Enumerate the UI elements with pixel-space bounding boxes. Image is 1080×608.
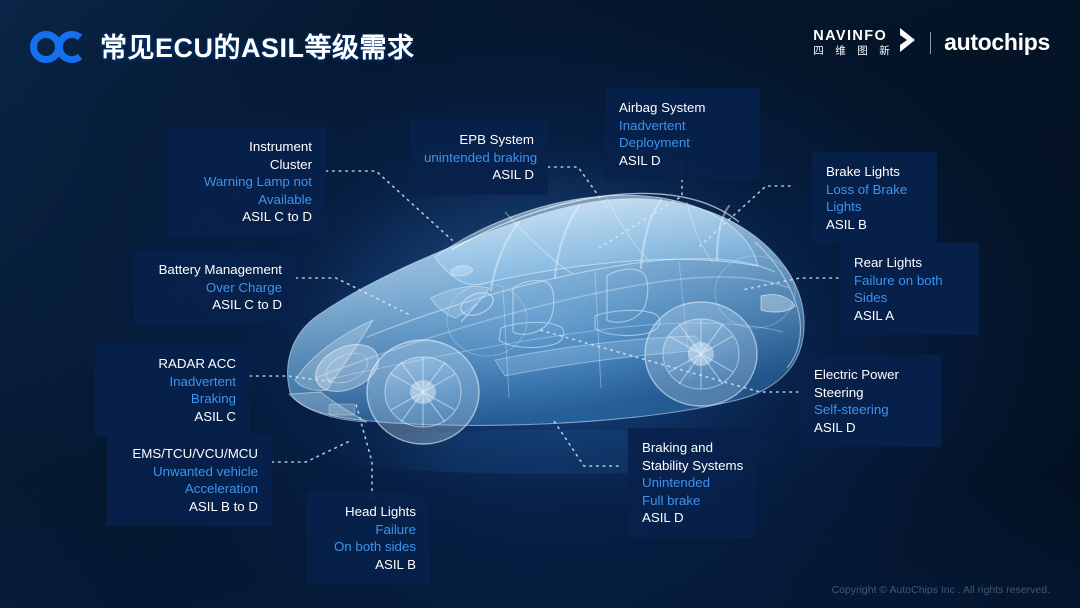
navinfo-logo-en: NAVINFO [813,29,887,44]
callout-battery-management[interactable]: Battery Management Over Charge ASIL C to… [134,250,296,325]
brand-logos: NAVINFO 四 维 图 新 autochips [813,27,1050,58]
callout-line: Sides [854,289,965,307]
callout-line: Over Charge [148,279,282,297]
callout-line: Acceleration [121,480,258,498]
slide-canvas: 常见ECU的ASIL等级需求 NAVINFO 四 维 图 新 autochips [0,0,1080,608]
page-title: 常见ECU的ASIL等级需求 [100,26,415,65]
callout-line: Lights [826,198,923,216]
callout-line: ASIL A [854,307,965,325]
oc-logo-icon [30,30,88,64]
callout-radar-acc[interactable]: RADAR ACC Inadvertent Braking ASIL C [95,344,250,436]
chevron-right-icon [898,27,917,58]
callout-line: ASIL D [642,509,741,527]
callout-line: Deployment [619,134,746,152]
callout-line: Cluster [181,156,312,174]
callout-line: ASIL B [826,216,923,234]
slide-header: 常见ECU的ASIL等级需求 NAVINFO 四 维 图 新 autochips [0,0,1080,84]
callout-airbag-system[interactable]: Airbag System Inadvertent Deployment ASI… [605,88,760,180]
callout-line: Rear Lights [854,254,965,272]
callout-line: Unintended [642,474,741,492]
callout-line: Braking [109,390,236,408]
callout-line: ASIL D [424,166,534,184]
callout-line: ASIL B [321,556,416,574]
callout-line: Electric Power [814,366,927,384]
callout-line: ASIL C to D [148,296,282,314]
callout-line: Stability Systems [642,457,741,475]
callout-line: Failure on both [854,272,965,290]
callout-line: unintended braking [424,149,534,167]
callout-rear-lights[interactable]: Rear Lights Failure on both Sides ASIL A [840,243,979,335]
navinfo-logo: NAVINFO 四 维 图 新 [813,27,917,58]
callout-line: ASIL D [619,152,746,170]
callout-line: EPB System [424,131,534,149]
callout-line: Available [181,191,312,209]
callout-brake-lights[interactable]: Brake Lights Loss of Brake Lights ASIL B [812,152,937,244]
callout-line: ASIL C [109,408,236,426]
callout-line: On both sides [321,538,416,556]
callout-line: Self-steering [814,401,927,419]
callout-line: EMS/TCU/VCU/MCU [121,445,258,463]
brand-divider [930,32,931,54]
callout-line: Braking and [642,439,741,457]
callout-head-lights[interactable]: Head Lights Failure On both sides ASIL B [307,492,430,584]
callout-electric-power-steering[interactable]: Electric Power Steering Self-steering AS… [800,355,941,447]
callout-line: Head Lights [321,503,416,521]
callout-line: ASIL C to D [181,208,312,226]
copyright-text: Copyright © AutoChips Inc . All rights r… [832,584,1050,596]
callout-line: Steering [814,384,927,402]
callout-line: ASIL D [814,419,927,437]
callout-braking-stability-systems[interactable]: Braking and Stability Systems Unintended… [628,428,755,538]
callout-instrument-cluster[interactable]: Instrument Cluster Warning Lamp not Avai… [167,127,326,237]
callout-line: Inadvertent [619,117,746,135]
callout-ems-tcu-vcu-mcu[interactable]: EMS/TCU/VCU/MCU Unwanted vehicle Acceler… [107,434,272,526]
autochips-logo: autochips [944,29,1050,56]
callout-line: Inadvertent [109,373,236,391]
callout-line: Full brake [642,492,741,510]
callout-line: Warning Lamp not [181,173,312,191]
callout-line: Instrument [181,138,312,156]
callout-line: RADAR ACC [109,355,236,373]
callout-line: Battery Management [148,261,282,279]
callout-line: Loss of Brake [826,181,923,199]
callout-line: Brake Lights [826,163,923,181]
callout-line: Airbag System [619,99,746,117]
callout-line: ASIL B to D [121,498,258,516]
callout-epb-system[interactable]: EPB System unintended braking ASIL D [410,120,548,195]
callout-line: Failure [321,521,416,539]
callout-line: Unwanted vehicle [121,463,258,481]
navinfo-logo-cn: 四 维 图 新 [813,46,894,57]
